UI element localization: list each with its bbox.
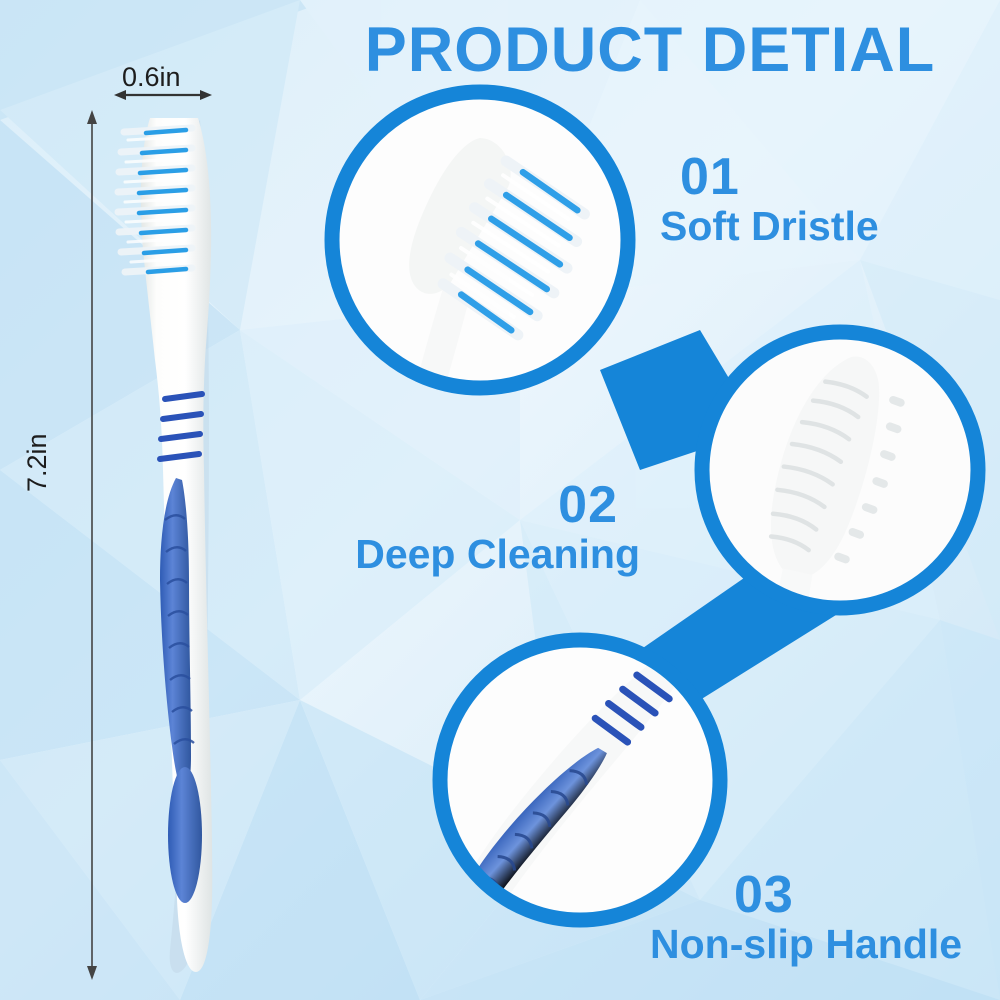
height-dimension-label: 7.2in bbox=[22, 433, 53, 492]
callout-02: 02 Deep Cleaning bbox=[300, 478, 640, 576]
page-title: PRODUCT DETIAL bbox=[300, 14, 1000, 86]
callout-02-number: 02 bbox=[300, 478, 618, 533]
bristle-field bbox=[118, 128, 192, 272]
product-detail-infographic: PRODUCT DETIAL 0.6in 7.2in 01 Soft Drist… bbox=[0, 0, 1000, 1000]
callout-01-number: 01 bbox=[680, 150, 879, 205]
thumb-pad bbox=[168, 767, 202, 903]
callout-photo-01 bbox=[332, 92, 628, 424]
toothbrush-full-view bbox=[118, 118, 212, 973]
callout-01: 01 Soft Dristle bbox=[660, 150, 879, 248]
height-dimension-arrow bbox=[87, 110, 97, 980]
callout-01-label: Soft Dristle bbox=[660, 205, 879, 248]
callout-02-label: Deep Cleaning bbox=[300, 533, 640, 576]
callout-03-number: 03 bbox=[734, 868, 1000, 923]
width-dimension-label: 0.6in bbox=[122, 62, 181, 93]
callout-03-label: Non-slip Handle bbox=[650, 923, 1000, 966]
handle-grip-pad bbox=[160, 478, 191, 793]
callout-03: 03 Non-slip Handle bbox=[650, 868, 1000, 966]
